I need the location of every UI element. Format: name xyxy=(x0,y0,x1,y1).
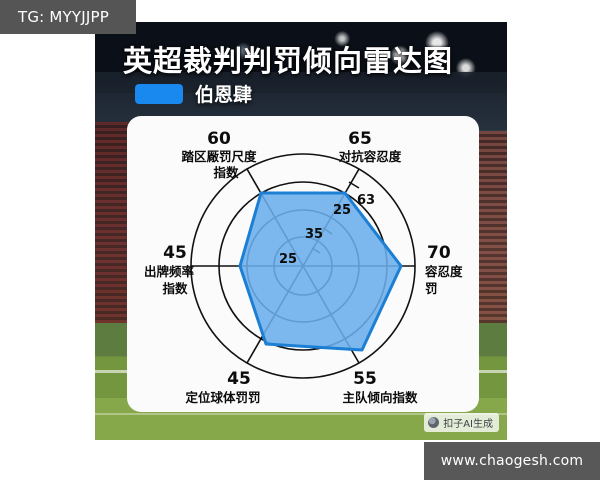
site-url-text: www.chaogesh.com xyxy=(441,453,583,469)
axis-value-3: 70 xyxy=(427,243,451,263)
ai-watermark: 扣子AI生成 xyxy=(424,413,499,432)
axis-label-1-line1: 踏区厰罚尺度 xyxy=(181,149,257,164)
axis-label-2-line1: 对抗容忍度 xyxy=(339,149,402,164)
radar-chart-svg: 25 35 25 63 60 踏区厰罚尺度 指数 65 对抗容忍度 70 容忍度… xyxy=(127,116,479,412)
axis-value-2: 65 xyxy=(348,129,372,149)
legend-series-label: 伯恩肆 xyxy=(195,80,252,107)
tick-label-outer: 25 xyxy=(333,203,351,218)
page-title: 英超裁判判罚倾向雷达图 xyxy=(123,38,483,80)
axis-label-5-line1: 定位球体罚罚 xyxy=(184,390,260,405)
coze-logo-icon xyxy=(428,417,439,428)
axis-value-1: 60 xyxy=(207,129,231,149)
telegram-watermark-text: TG: MYYJJPP xyxy=(18,8,109,26)
tick-label-mid: 35 xyxy=(305,227,323,242)
axis-label-3-line1: 容忍度 xyxy=(424,264,463,279)
axis-label-6-line2: 指数 xyxy=(162,281,188,296)
axis-value-5: 45 xyxy=(227,369,251,389)
axis-label-3-line2: 罚 xyxy=(425,281,438,296)
axis-value-6: 45 xyxy=(163,243,187,263)
radar-data-polygon xyxy=(240,193,401,350)
chart-legend: 伯恩肆 xyxy=(135,80,252,107)
axis-label-6-line1: 出牌频率 xyxy=(144,264,195,279)
tick-label-max: 63 xyxy=(357,193,375,208)
axis-label-1-line2: 指数 xyxy=(213,165,239,180)
radar-chart-panel: 25 35 25 63 60 踏区厰罚尺度 指数 65 对抗容忍度 70 容忍度… xyxy=(127,116,479,412)
ai-watermark-text: 扣子AI生成 xyxy=(443,415,493,430)
site-footer: www.chaogesh.com xyxy=(424,442,600,480)
axis-value-4: 55 xyxy=(353,369,377,389)
poster-image-card: 英超裁判判罚倾向雷达图 伯恩肆 xyxy=(95,22,507,440)
axis-label-4-line1: 主队倾向指数 xyxy=(342,390,418,405)
telegram-watermark-badge: TG: MYYJJPP xyxy=(0,0,136,34)
tick-label-inner: 25 xyxy=(279,252,297,267)
legend-color-swatch xyxy=(135,84,183,104)
screenshot-root: TG: MYYJJPP 英超裁判判罚倾向雷达图 伯恩肆 xyxy=(0,0,600,480)
